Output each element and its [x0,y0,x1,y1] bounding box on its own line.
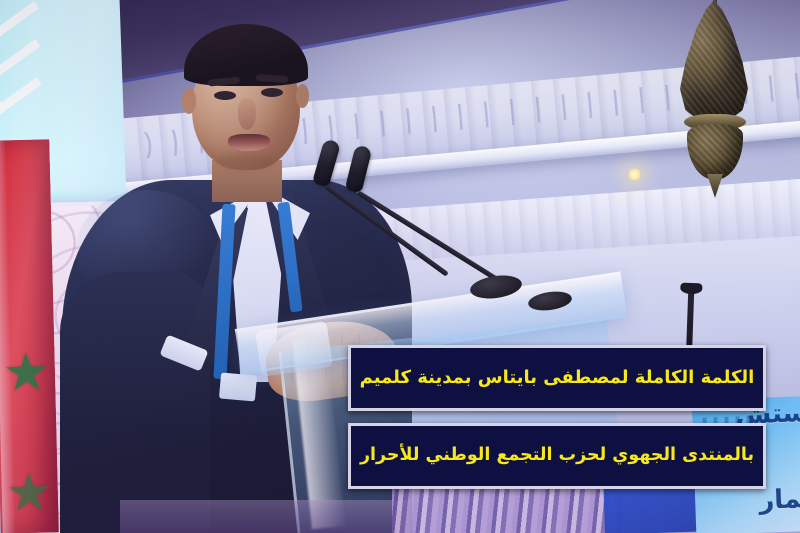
caption-banner-line-1: الكلمة الكاملة لمصطفى بايتاس بمدينة كلمي… [348,345,766,411]
caption-text-line-1: الكلمة الكاملة لمصطفى بايتاس بمدينة كلمي… [360,369,755,387]
lantern-bowl [687,124,743,180]
chevron-icon [0,66,41,118]
pentagram-star-icon: ★ [5,469,52,516]
screenshot-root: ★ ★ [0,0,800,533]
speaker-nose [238,98,256,130]
caption-banner-line-2: بالمنتدى الجهوي لحزب التجمع الوطني للأحر… [348,423,766,489]
floor-strip [120,500,410,533]
lantern-finial [707,174,723,198]
lantern-bulb [680,0,748,120]
moroccan-flag: ★ ★ [0,139,59,533]
pentagram-star-icon: ★ [2,349,49,396]
moroccan-lantern [668,0,764,201]
speaker-hair [184,24,308,86]
ceiling-spotlight [627,168,642,181]
speaker-eye-right [261,88,283,97]
speaker-chin-shadow [216,154,278,170]
speaker-mouth [228,134,270,151]
speaker-eye-left [214,91,236,100]
speaker-left-arm [60,272,210,533]
speaker-ear-right [296,84,309,108]
speaker-ear-left [182,88,196,114]
caption-text-line-2: بالمنتدى الجهوي لحزب التجمع الوطني للأحر… [360,447,754,465]
